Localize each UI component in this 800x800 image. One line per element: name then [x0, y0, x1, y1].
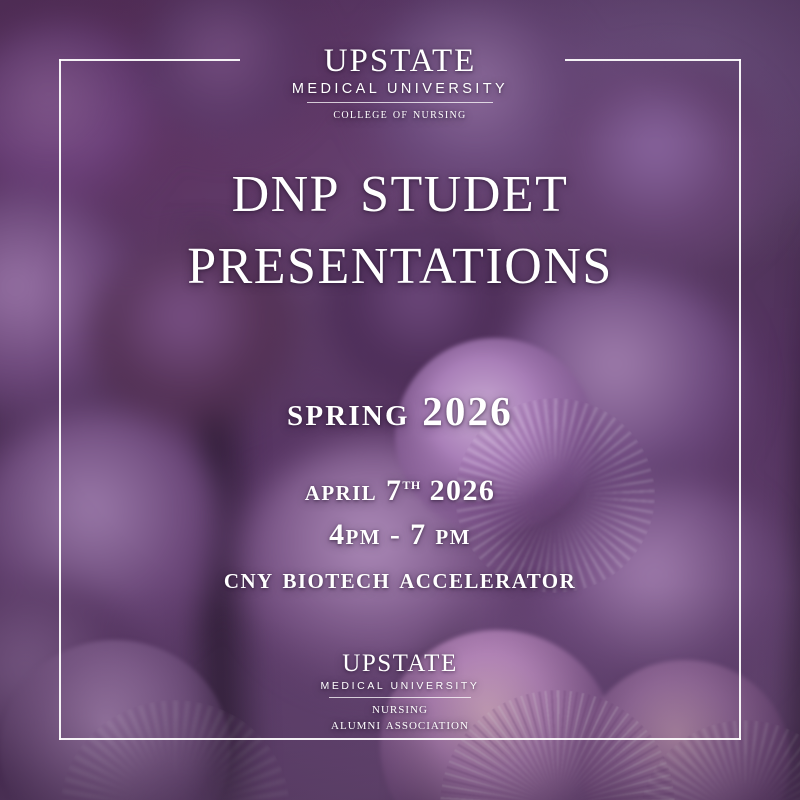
page-title-line-1: DNP Studet [232, 146, 569, 228]
event-date: April 7TH 2026 [224, 469, 576, 513]
event-time: 4PM - 7 PM [224, 513, 576, 557]
event-date-suffix: 2026 [430, 474, 496, 507]
footer-logo-unit-line-1: Nursing [320, 701, 479, 718]
page-title: DNP Studet Presentations [187, 149, 613, 297]
footer-logo-subtitle: Medical University [320, 680, 479, 692]
event-date-prefix: April 7 [305, 474, 403, 507]
page-title-line-2: Presentations [187, 221, 613, 297]
footer-logo-unit-line-2: Alumni Association [320, 717, 479, 734]
header-logo: Upstate Medical University College Of Nu… [292, 33, 508, 123]
event-date-ordinal: TH [402, 474, 420, 493]
event-poster: Upstate Medical University College Of Nu… [0, 0, 800, 800]
footer-logo-divider [329, 697, 471, 698]
header-logo-unit: College Of Nursing [292, 107, 508, 123]
header-logo-subtitle: Medical University [292, 81, 508, 97]
header-logo-divider [307, 102, 493, 103]
header-logo-wordmark: Upstate [292, 33, 508, 79]
season-subtitle: Spring 2026 [287, 387, 513, 435]
event-details: April 7TH 2026 4PM - 7 PM CNY Biotech Ac… [224, 469, 576, 601]
event-venue: CNY Biotech Accelerator [224, 557, 576, 601]
footer-logo-wordmark: Upstate [320, 643, 479, 677]
footer-logo: Upstate Medical University Nursing Alumn… [320, 643, 479, 734]
